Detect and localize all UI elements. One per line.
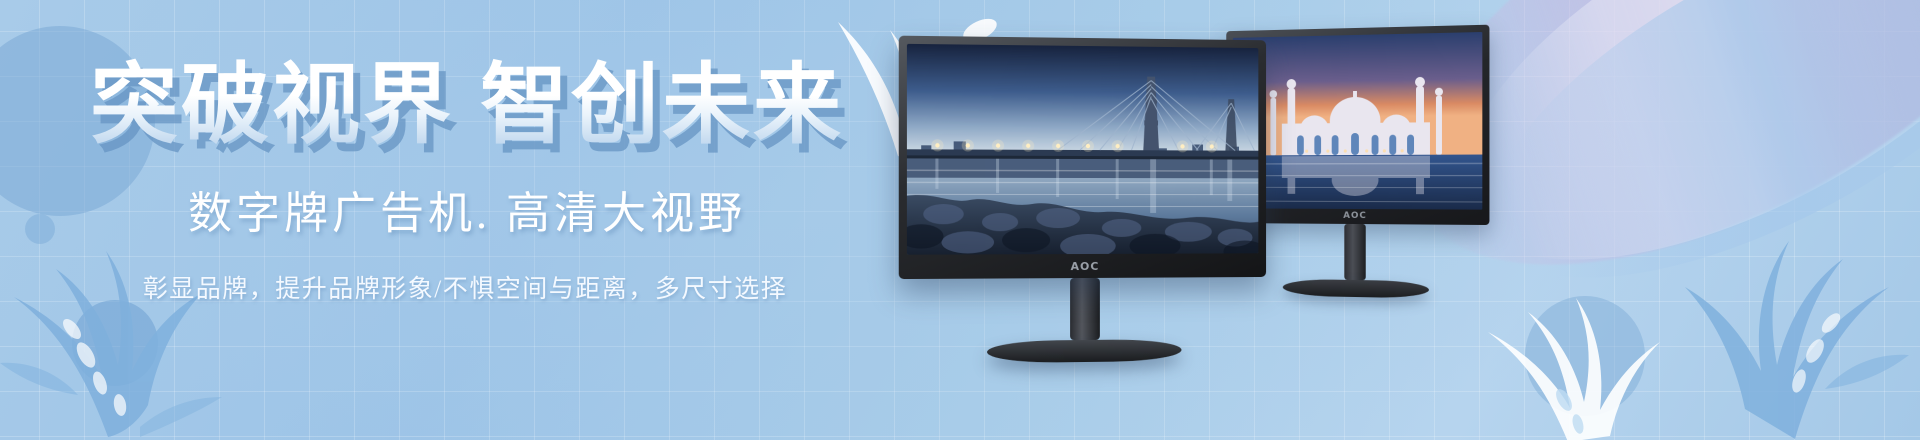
monitor-back-screen — [1233, 32, 1483, 210]
monitor-front-stand-neck — [1070, 278, 1100, 340]
headline-part-1: 突破视界 — [90, 53, 454, 156]
banner-headline: 突破视界智创未来 — [0, 58, 900, 151]
fern-leaf-icon-bottom-right — [1660, 165, 1920, 440]
monitor-front-stand-base — [987, 339, 1182, 363]
product-images: AOC — [880, 0, 1520, 440]
banner-text-block: 突破视界智创未来 数字牌广告机. 高清大视野 彰显品牌，提升品牌形象/不惧空间与… — [0, 58, 900, 305]
monitor-front-screen — [907, 44, 1258, 255]
monitor-back-stand-neck — [1344, 224, 1365, 280]
monitor-back-brand-logo: AOC — [1343, 211, 1367, 221]
monitor-front-bezel: AOC — [899, 36, 1266, 279]
monitor-front-brand-logo: AOC — [1071, 260, 1100, 273]
monitor-front: AOC — [899, 36, 1266, 371]
banner-tagline: 彰显品牌，提升品牌形象/不惧空间与距离，多尺寸选择 — [0, 269, 900, 305]
promo-banner: 突破视界智创未来 数字牌广告机. 高清大视野 彰显品牌，提升品牌形象/不惧空间与… — [0, 0, 1920, 440]
headline-part-2: 智创未来 — [480, 53, 844, 156]
banner-subtitle: 数字牌广告机. 高清大视野 — [0, 177, 900, 241]
monitor-back-stand-base — [1283, 279, 1429, 299]
